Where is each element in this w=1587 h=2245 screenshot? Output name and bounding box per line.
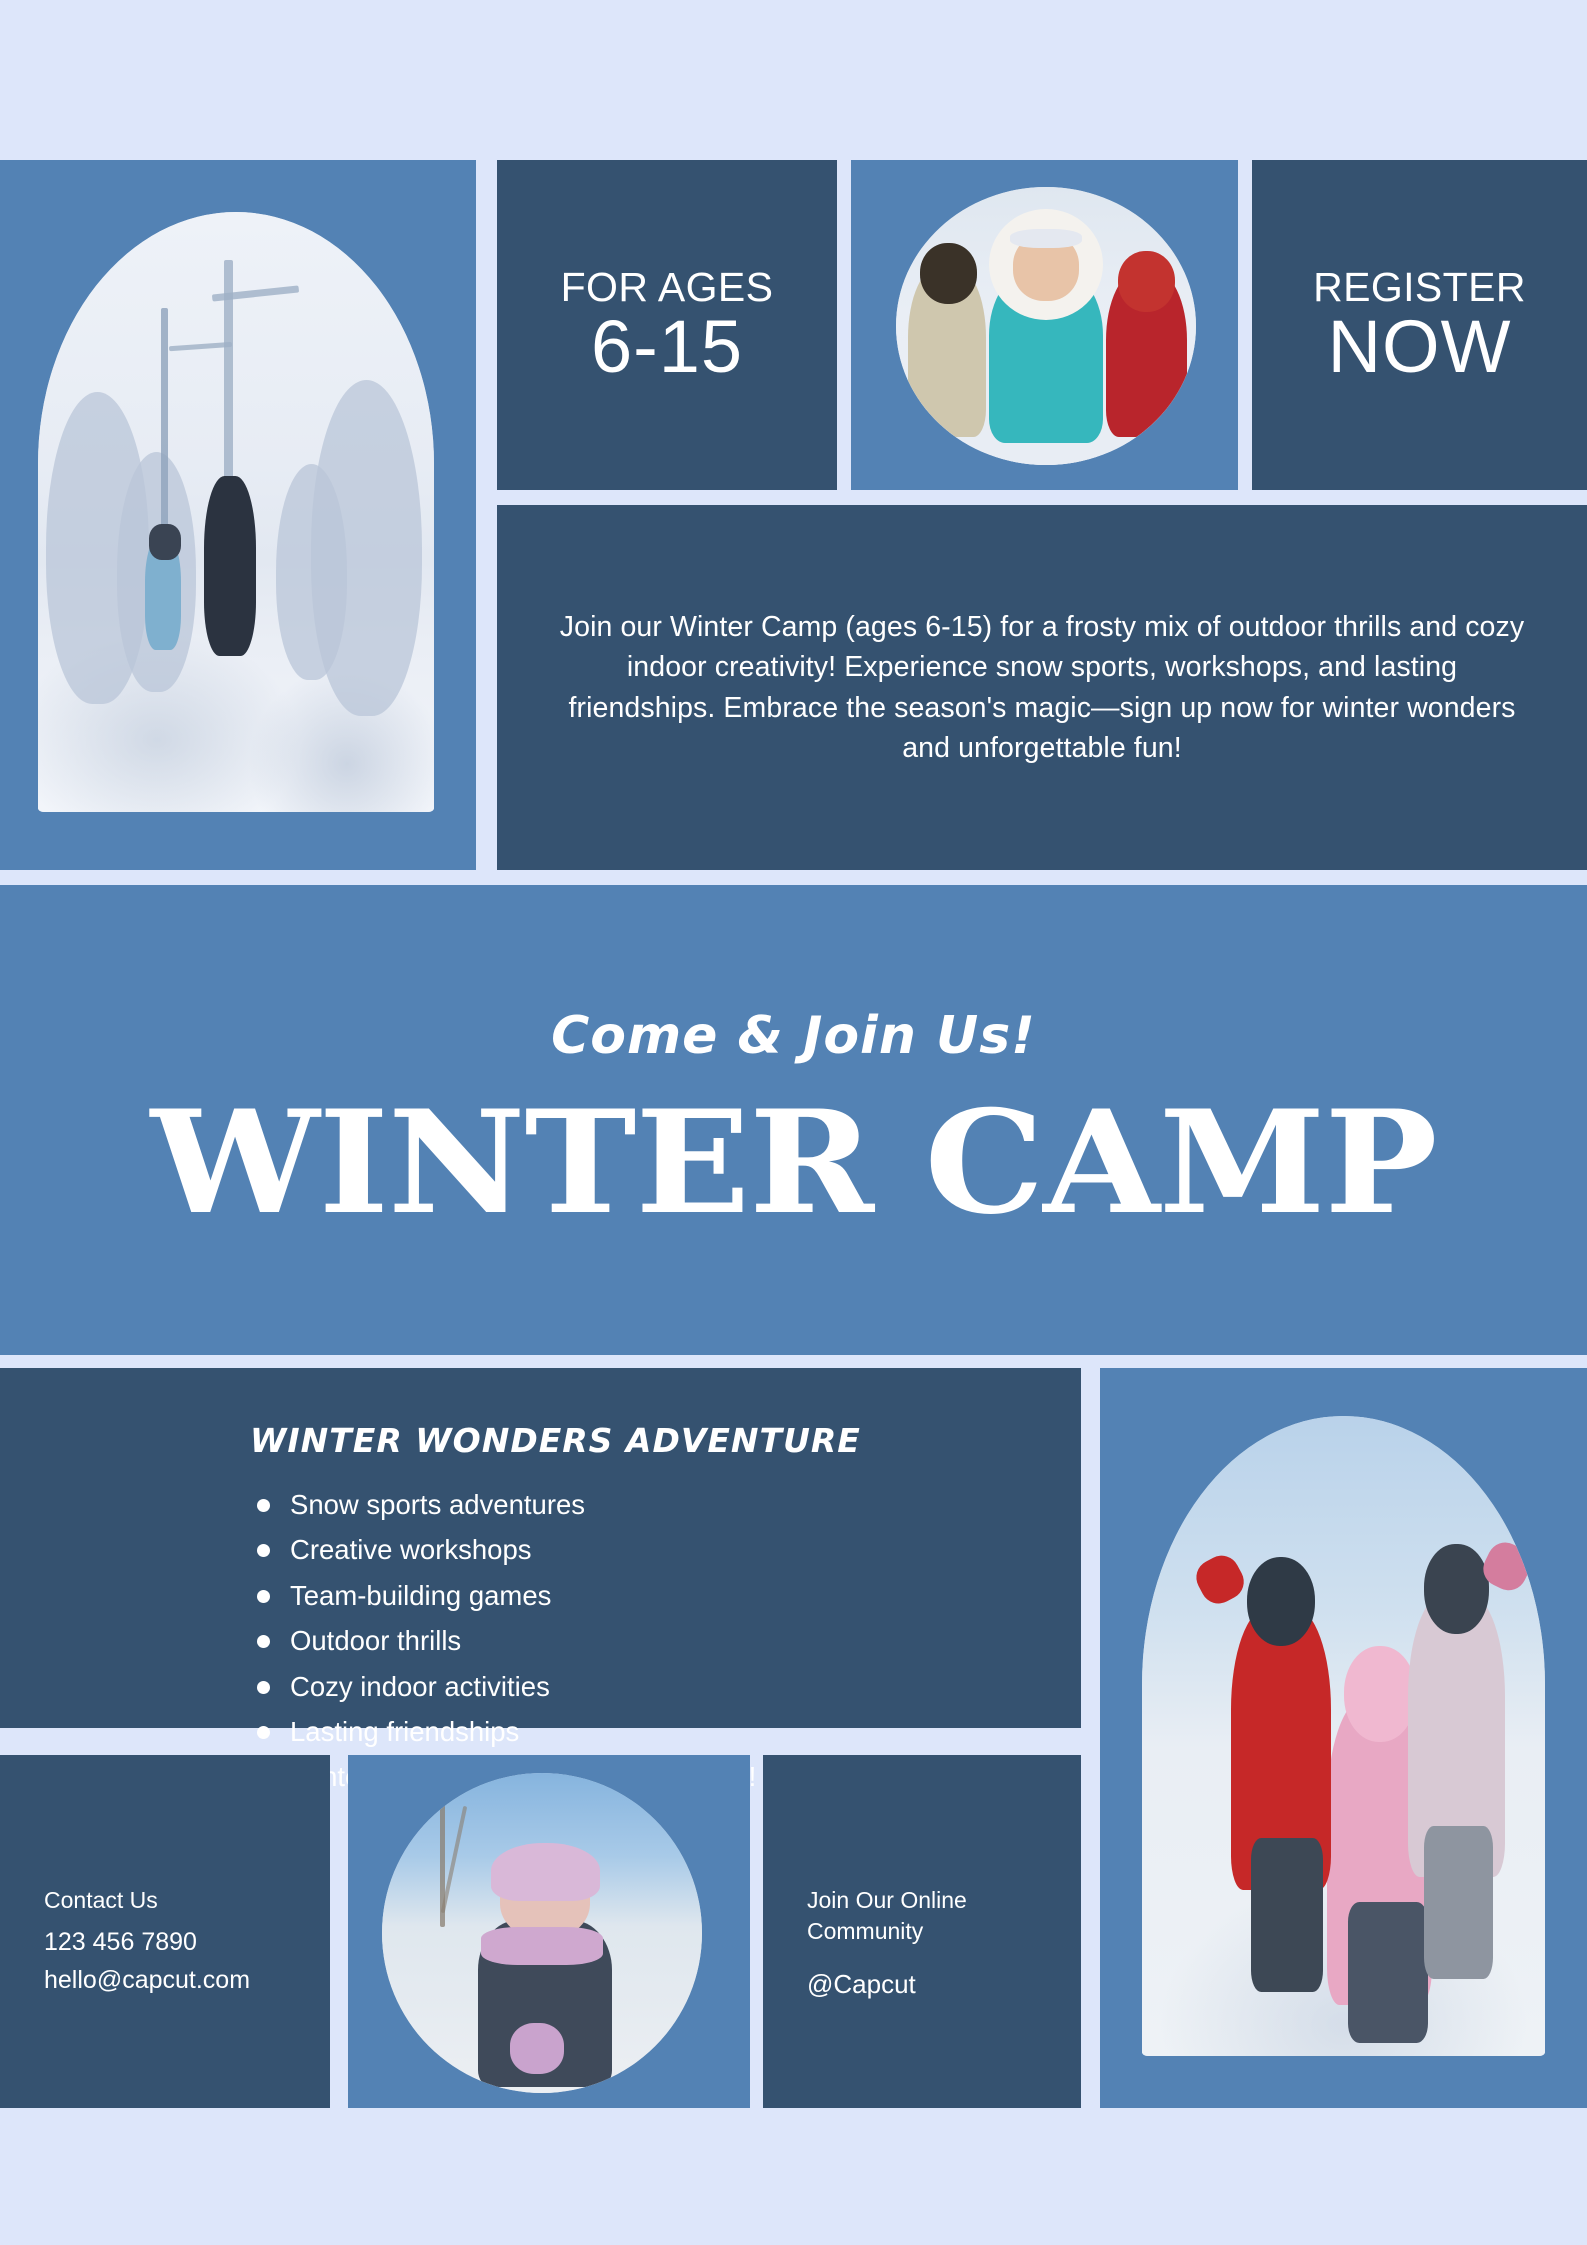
girl-photo-scene <box>382 1773 702 2093</box>
family-photo <box>1142 1416 1545 2056</box>
intro-panel: Join our Winter Camp (ages 6-15) for a f… <box>497 505 1587 870</box>
list-item: Outdoor thrills <box>245 1618 1081 1663</box>
features-list: Snow sports adventures Creative workshop… <box>245 1482 1081 1800</box>
kids-photo <box>896 187 1196 465</box>
features-heading: WINTER WONDERS ADVENTURE <box>250 1421 1081 1460</box>
register-card[interactable]: REGISTER NOW <box>1252 160 1587 490</box>
register-value: NOW <box>1328 309 1512 384</box>
kids-photo-scene <box>896 187 1196 465</box>
poster-canvas: FOR AGES 6-15 REGISTER NOW Join our Wint… <box>0 0 1587 2245</box>
contact-panel: Contact Us 123 456 7890 hello@capcut.com <box>0 1755 330 2108</box>
list-item: Lasting friendships <box>245 1709 1081 1754</box>
ski-lift-photo <box>38 212 434 812</box>
girl-photo <box>382 1773 702 2093</box>
ski-lift-photo-scene <box>38 212 434 812</box>
list-item: Cozy indoor activities <box>245 1664 1081 1709</box>
kids-photo-card <box>851 160 1238 490</box>
snowboarder-figure <box>204 476 255 656</box>
ages-label: FOR AGES <box>561 266 774 309</box>
hero-photo-panel <box>0 160 476 870</box>
contact-email[interactable]: hello@capcut.com <box>44 1962 330 1998</box>
contact-phone[interactable]: 123 456 7890 <box>44 1924 330 1960</box>
family-photo-panel <box>1100 1368 1587 2108</box>
social-panel: Join Our Online Community @Capcut <box>763 1755 1081 2108</box>
contact-label: Contact Us <box>44 1883 330 1918</box>
ages-card: FOR AGES 6-15 <box>497 160 837 490</box>
intro-paragraph: Join our Winter Camp (ages 6-15) for a f… <box>555 607 1529 769</box>
poster-title: WINTER CAMP <box>150 1092 1436 1234</box>
community-label: Join Our Online Community <box>807 1885 1037 1947</box>
list-item: Team-building games <box>245 1573 1081 1618</box>
girl-photo-panel <box>348 1755 750 2108</box>
title-band: Come & Join Us! WINTER CAMP <box>0 885 1587 1355</box>
family-photo-scene <box>1142 1416 1545 2056</box>
features-panel: WINTER WONDERS ADVENTURE Snow sports adv… <box>0 1368 1081 1728</box>
list-item: Creative workshops <box>245 1527 1081 1572</box>
title-eyebrow: Come & Join Us! <box>551 1006 1036 1066</box>
ages-value: 6-15 <box>591 309 743 384</box>
social-handle[interactable]: @Capcut <box>807 1965 1081 2004</box>
register-label: REGISTER <box>1313 266 1526 309</box>
list-item: Snow sports adventures <box>245 1482 1081 1527</box>
